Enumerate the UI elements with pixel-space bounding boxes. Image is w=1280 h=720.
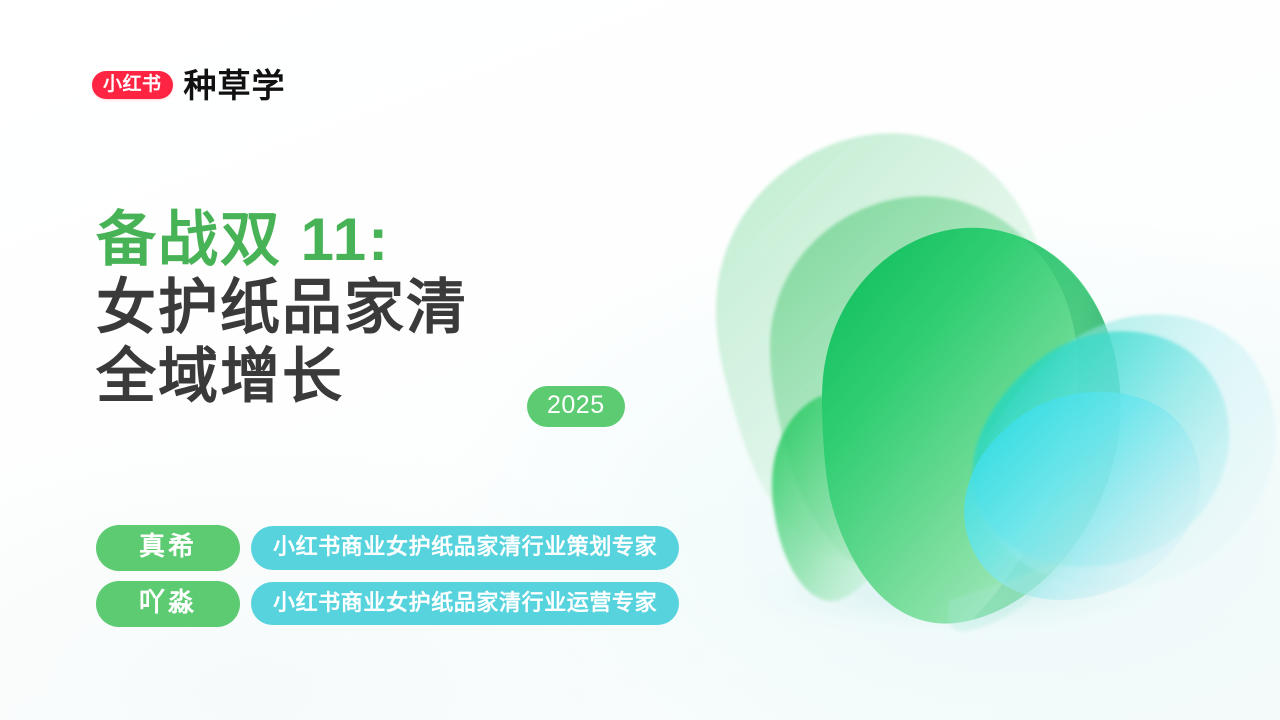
speaker-row: 真希 小红书商业女护纸品家清行业策划专家 <box>96 525 679 571</box>
heart-bottom-point <box>948 554 1072 632</box>
heart-lobe-main-green-edge <box>972 236 1121 620</box>
speaker-name-badge: 吖淼 <box>96 581 240 627</box>
heart-lobe-right-cyan <box>964 392 1200 600</box>
speaker-row: 吖淼 小红书商业女护纸品家清行业运营专家 <box>96 581 679 627</box>
headline-line-2: 女护纸品家清 <box>96 274 656 342</box>
layered-heart-artwork <box>620 80 1280 680</box>
year-badge: 2025 <box>527 386 625 427</box>
brand-sublogo-text: 种草学 <box>184 69 286 102</box>
page-title: 备战双 11: 女护纸品家清 全域增长 <box>96 206 656 411</box>
heart-ground-reflection <box>700 544 1200 640</box>
speaker-list: 真希 小红书商业女护纸品家清行业策划专家 吖淼 小红书商业女护纸品家清行业运营专… <box>96 525 679 627</box>
speaker-title-badge: 小红书商业女护纸品家清行业运营专家 <box>251 582 679 625</box>
xiaohongshu-logo-pill: 小红书 <box>92 71 173 99</box>
heart-petal-left-outer <box>716 133 1051 561</box>
speaker-title-badge: 小红书商业女护纸品家清行业策划专家 <box>251 526 679 569</box>
speaker-name-badge: 真希 <box>96 525 240 571</box>
brand-logo: 小红书 种草学 <box>92 62 286 108</box>
slide-root: 小红书 种草学 备战双 11: 女护纸品家清 全域增长 2025 真希 小红书商… <box>0 0 1280 720</box>
heart-lobe-main-green <box>822 228 1121 624</box>
heart-petal-right-outer <box>978 314 1275 588</box>
heart-petal-left-bud <box>772 392 905 601</box>
headline-line-1: 备战双 11: <box>96 206 656 274</box>
heart-band-right-teal <box>972 331 1229 567</box>
heart-petal-left-middle <box>770 196 1073 578</box>
